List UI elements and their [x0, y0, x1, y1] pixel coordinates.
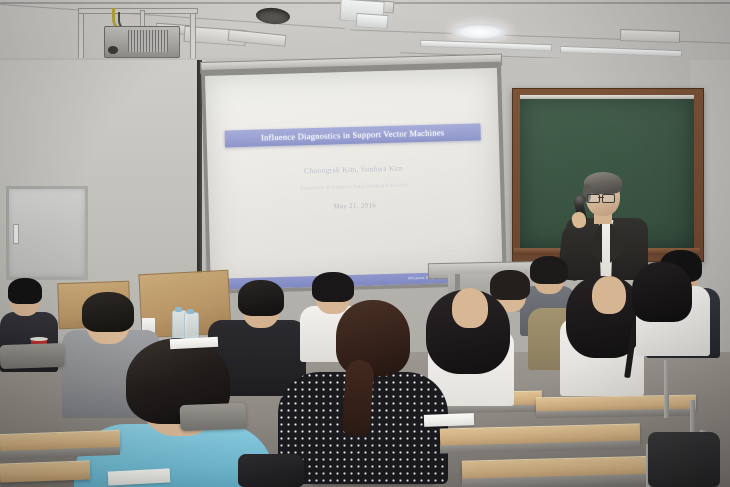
slide-title: Influence Diagnostics in Support Vector …	[225, 123, 481, 147]
black-shoulder-bag	[238, 454, 304, 487]
projector-vent-grille	[128, 30, 168, 52]
classroom-chair-back	[0, 343, 64, 369]
handout-paper	[424, 413, 474, 427]
presenter-glasses-icon	[598, 197, 604, 198]
cabinet-handle	[13, 224, 19, 244]
attendee-head	[452, 288, 488, 328]
classroom-chair-back	[180, 403, 247, 431]
desk-leg	[664, 360, 669, 418]
attendee-hair	[8, 278, 42, 304]
presentation-slide: Influence Diagnostics in Support Vector …	[205, 68, 503, 290]
ceiling-air-vent	[620, 29, 680, 43]
bottle-cap	[187, 309, 194, 314]
attendee-hair	[632, 262, 692, 322]
slide-authors: Choongrak Kim, Sunhwa Kim	[208, 161, 500, 178]
attendee-hair	[238, 280, 284, 316]
cup-rim	[30, 337, 48, 341]
attendee-hair	[82, 292, 134, 332]
attendee-hair	[336, 300, 410, 376]
projector-mount-bar	[78, 8, 198, 14]
cabinet-label	[22, 196, 68, 203]
attendee-head	[592, 276, 626, 314]
slide-affiliation: Department of Statistics, Pusan National…	[208, 180, 500, 193]
bottle-cap	[175, 307, 182, 312]
attendee-hair	[312, 272, 354, 302]
projection-screen: Influence Diagnostics in Support Vector …	[205, 68, 503, 290]
slide-date: May 21, 2016	[209, 198, 501, 214]
lecture-hall-photo: Influence Diagnostics in Support Vector …	[0, 0, 730, 487]
attendee-ponytail	[341, 359, 374, 437]
ceiling-fluorescent-light	[356, 13, 389, 29]
chalkboard-top-rail	[520, 95, 694, 99]
projector-lens-icon	[108, 46, 118, 54]
ceiling-downlight	[452, 24, 508, 40]
classroom-desk	[0, 460, 90, 482]
black-shoulder-bag	[648, 432, 720, 487]
attendee-hair	[490, 270, 530, 300]
attendee-hair	[530, 256, 568, 284]
